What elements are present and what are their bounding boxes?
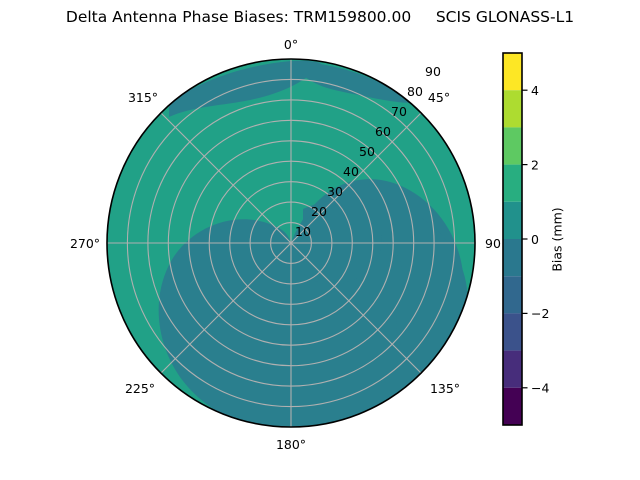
polar-plot: 10 20 30 40 50 60 70 80 90 0° 45° 90 135… [107,59,475,427]
radial-tick-90: 90 [425,64,441,79]
polar-axes: 10 20 30 40 50 60 70 80 90 0° 45° 90 135… [107,59,475,427]
colorbar-tick-2: 2 [531,157,539,172]
radial-tick-50: 50 [359,144,375,159]
colorbar-tick-4: 4 [531,83,539,98]
angular-tick-225: 225° [125,381,155,396]
angular-gridlines [107,59,475,427]
angular-tick-90: 90 [485,236,501,251]
colorbar-bands [503,53,522,425]
figure-canvas: Delta Antenna Phase Biases: TRM159800.00… [0,0,640,480]
colorbar-axis-label-text: Bias (mm) [550,207,565,271]
radial-tick-10: 10 [295,224,311,239]
colorbar-tick-0: 0 [531,232,539,247]
radial-tick-30: 30 [327,184,343,199]
angular-tick-0: 0° [284,37,298,52]
angular-tick-270: 270° [70,236,100,251]
angular-tick-180: 180° [276,437,306,452]
angular-tick-135: 135° [430,381,460,396]
angular-tick-45: 45° [428,90,450,105]
angular-tick-315: 315° [128,90,158,105]
colorbar: 4 2 0 −2 −4 [503,53,522,425]
radial-tick-40: 40 [343,164,359,179]
chart-title: Delta Antenna Phase Biases: TRM159800.00… [0,8,640,26]
colorbar-ticks [522,90,528,388]
radial-tick-80: 80 [407,84,423,99]
radial-tick-60: 60 [375,124,391,139]
radial-tick-70: 70 [391,104,407,119]
colorbar-axis-label: Bias (mm) [547,53,567,425]
colorbar-gradient: 4 2 0 −2 −4 [503,53,522,425]
radial-tick-20: 20 [311,204,327,219]
